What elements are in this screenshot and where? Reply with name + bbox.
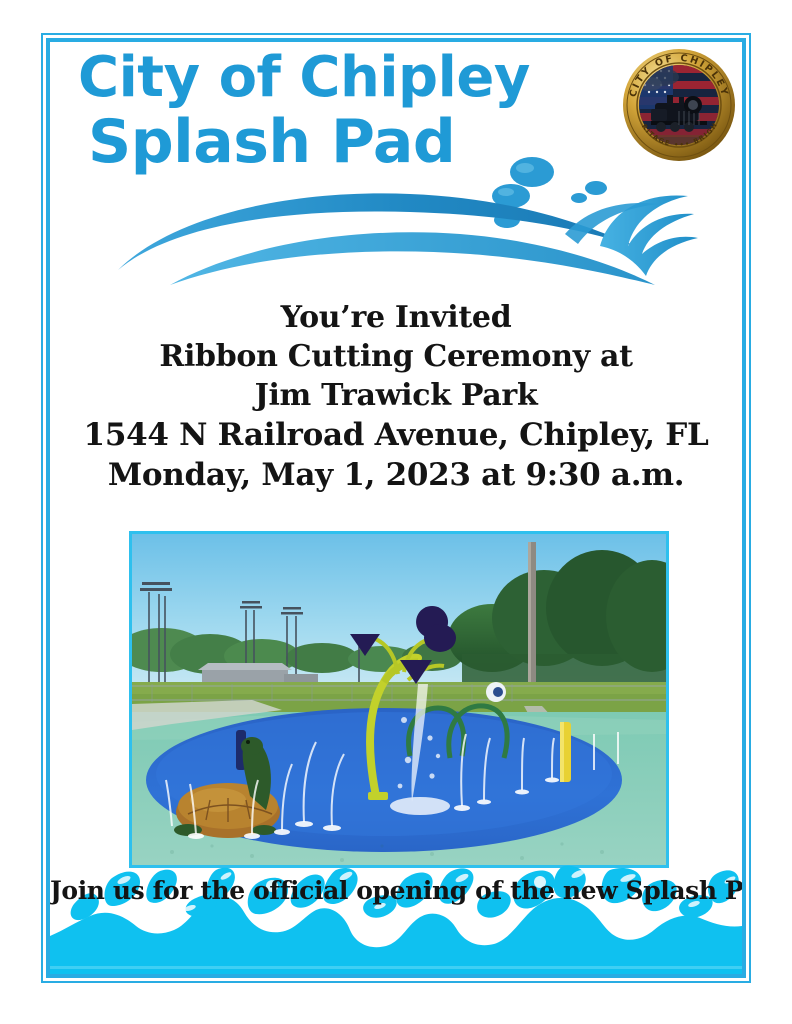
photo-yellow-post [560,722,571,782]
invite-line-4: 1544 N Railroad Avenue, Chipley, FL [50,415,742,455]
invite-line-5: Monday, May 1, 2023 at 9:30 a.m. [50,455,742,495]
invite-line-2: Ribbon Cutting Ceremony at [50,337,742,376]
wave-secondary [170,232,655,285]
title-line-splash-pad: Splash Pad [50,112,590,172]
city-seal-logo: CITY OF CHIPLEY PROUD HERITAGE ••• BRIGH… [621,47,737,163]
invitation-text-block: You’re Invited Ribbon Cutting Ceremony a… [50,298,742,496]
wave-splash-curl [600,195,698,276]
flyer-page: City of Chipley Splash Pad [0,0,792,1024]
splash-pad-photo [129,531,669,868]
title-line-city: City of Chipley [50,50,590,106]
invite-line-3: Jim Trawick Park [50,376,742,415]
footer-caption: Join us for the official opening of the … [50,876,742,905]
flyer-content-area: City of Chipley Splash Pad [50,42,742,974]
invite-line-1: You’re Invited [50,298,742,337]
wave-primary [118,193,640,270]
flyer-title: City of Chipley Splash Pad [50,50,590,172]
photo-pavilion [202,670,288,684]
splash-wave-body [50,896,742,974]
